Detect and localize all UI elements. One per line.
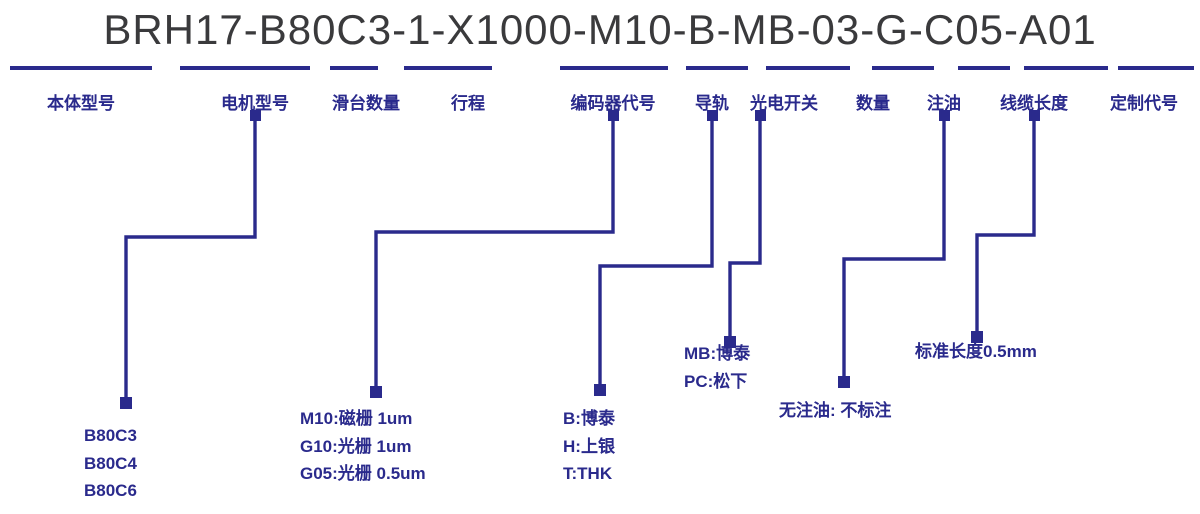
underline-body-model [10, 66, 152, 70]
leader-photo-switch [730, 118, 760, 341]
leader-node-rail-bottom [594, 384, 606, 396]
leader-node-oiling-bottom [838, 376, 850, 388]
options-body-model: B80C3 B80C4 B80C6 [84, 422, 137, 505]
product-code-breakdown-diagram: BRH17-B80C3-1-X1000-M10-B-MB-03-G-C05-A0… [0, 0, 1200, 514]
option-item: H:上银 [563, 433, 615, 461]
options-encoder-code: M10:磁栅 1um G10:光栅 1um G05:光栅 0.5um [300, 405, 426, 488]
underline-slide-count [330, 66, 378, 70]
underline-stroke [404, 66, 492, 70]
field-label-photo-switch: 光电开关 [750, 89, 818, 114]
product-code-text: BRH17-B80C3-1-X1000-M10-B-MB-03-G-C05-A0… [103, 6, 1096, 54]
leader-encoder-code [376, 118, 613, 391]
option-item: G10:光栅 1um [300, 433, 426, 461]
option-item: MB:博泰 [684, 340, 750, 368]
option-item: G05:光栅 0.5um [300, 460, 426, 488]
underline-photo-switch [766, 66, 850, 70]
option-item: B80C3 [84, 422, 137, 450]
leader-body-model [126, 118, 255, 402]
underline-oiling [958, 66, 1010, 70]
option-item: B80C4 [84, 450, 137, 478]
field-label-body-model: 本体型号 [47, 89, 115, 114]
underline-encoder-code [560, 66, 668, 70]
option-item: T:THK [563, 460, 615, 488]
leader-node-encoder-bottom [370, 386, 382, 398]
note-cable-length: 标准长度0.5mm [915, 337, 1037, 362]
options-rail: B:博泰 H:上银 T:THK [563, 405, 615, 488]
field-label-slide-count: 滑台数量 [332, 89, 400, 114]
option-item: PC:松下 [684, 368, 750, 396]
underline-quantity [872, 66, 934, 70]
field-label-stroke: 行程 [451, 89, 485, 114]
underline-rail [686, 66, 748, 70]
option-item: B80C6 [84, 477, 137, 505]
field-label-cable-length: 线缆长度 [1000, 89, 1068, 114]
leader-node-body-bottom [120, 397, 132, 409]
underline-cable-length [1024, 66, 1108, 70]
note-oiling: 无注油: 不标注 [779, 396, 891, 421]
field-label-oiling: 注油 [927, 89, 961, 114]
field-label-motor-model: 电机型号 [221, 89, 289, 114]
option-item: M10:磁栅 1um [300, 405, 426, 433]
field-label-encoder-code: 编码器代号 [571, 89, 656, 114]
option-item: B:博泰 [563, 405, 615, 433]
underline-motor-model [180, 66, 310, 70]
options-photo-switch: MB:博泰 PC:松下 [684, 340, 750, 395]
field-label-custom-code: 定制代号 [1110, 89, 1178, 114]
leader-cable-length [977, 118, 1034, 336]
product-code-row: BRH17-B80C3-1-X1000-M10-B-MB-03-G-C05-A0… [0, 0, 1200, 60]
field-label-rail: 导轨 [695, 89, 729, 114]
field-label-quantity: 数量 [856, 89, 890, 114]
underline-custom-code [1118, 66, 1194, 70]
